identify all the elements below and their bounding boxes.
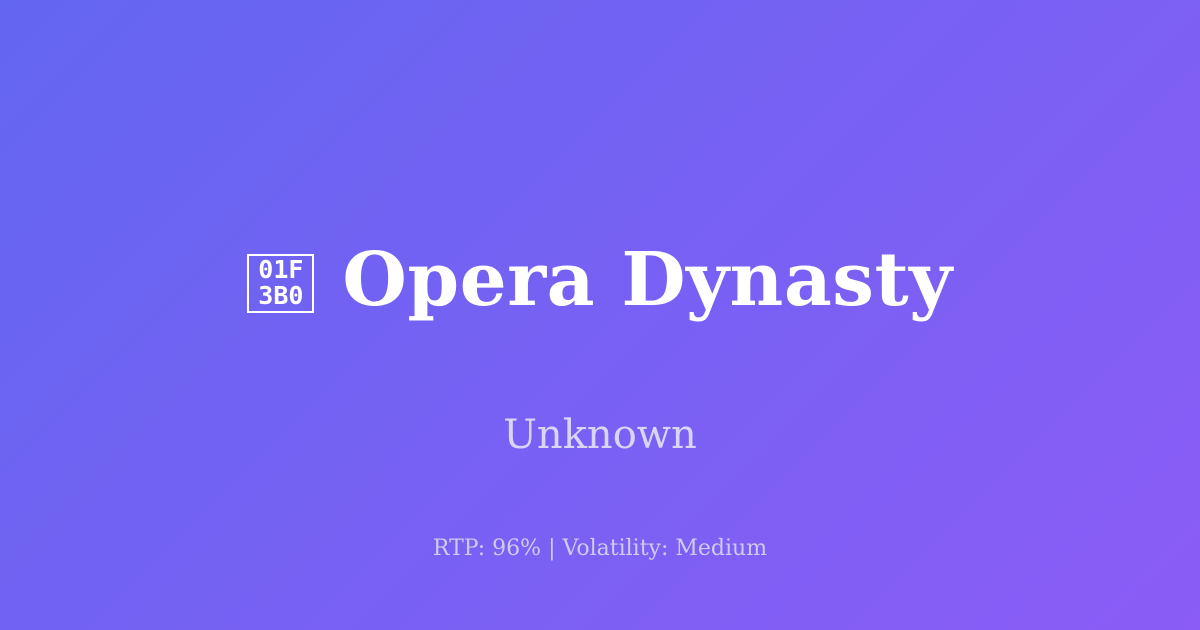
slot-machine-icon: 01F 3B0	[247, 254, 314, 313]
hero-block: 01F 3B0 Opera Dynasty Unknown	[247, 193, 952, 460]
title-row: 01F 3B0 Opera Dynasty	[247, 193, 952, 370]
meta-stats-line: RTP: 96% | Volatility: Medium	[0, 536, 1200, 562]
tofu-codepoint-row-top: 01F	[258, 257, 303, 283]
page-title: Opera Dynasty	[342, 242, 952, 320]
page-subtitle: Unknown	[503, 411, 697, 459]
og-share-card: 01F 3B0 Opera Dynasty Unknown RTP: 96% |…	[0, 0, 1200, 630]
tofu-codepoint-row-bottom: 3B0	[258, 283, 303, 309]
